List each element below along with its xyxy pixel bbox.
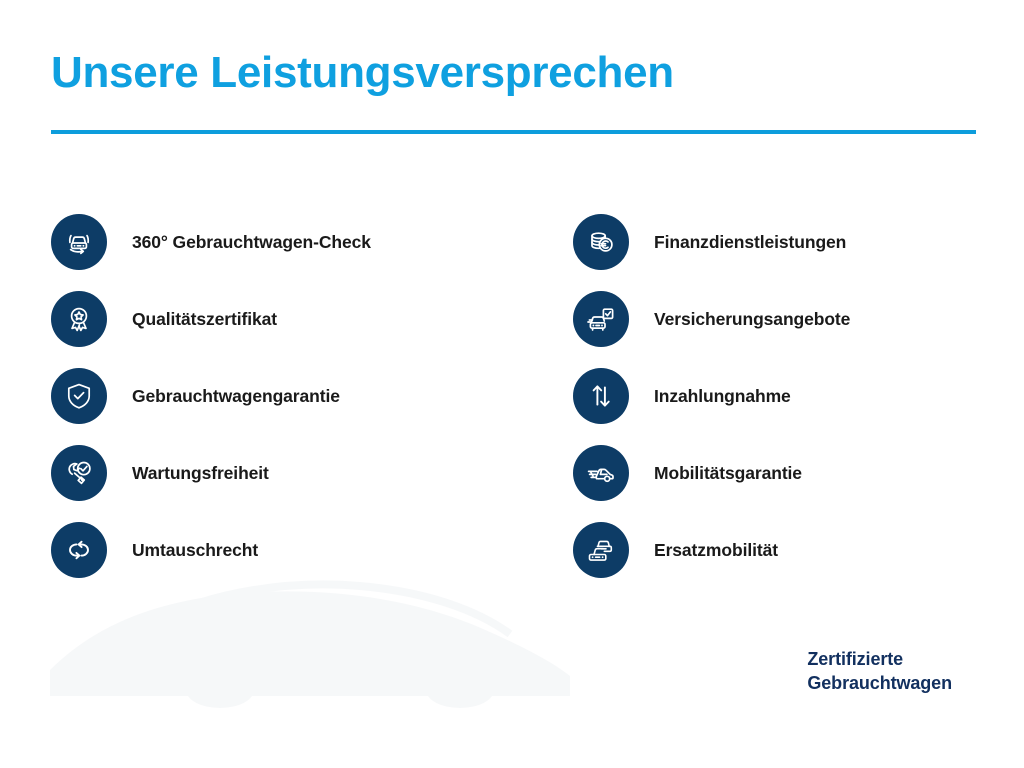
feature-label: Ersatzmobilität: [654, 539, 778, 561]
badge-line-1: Zertifizierte: [807, 647, 952, 671]
feature-item-gebrauchtwagengarantie[interactable]: Gebrauchtwagengarantie: [51, 357, 573, 434]
car-speed-icon: [573, 445, 629, 501]
feature-item-qualitaetszertifikat[interactable]: Qualitätszertifikat: [51, 280, 573, 357]
feature-item-mobilitaetsgarantie[interactable]: Mobilitätsgarantie: [573, 434, 976, 511]
feature-item-gebrauchtwagen-check[interactable]: 360° Gebrauchtwagen-Check: [51, 203, 573, 280]
feature-item-wartungsfreiheit[interactable]: Wartungsfreiheit: [51, 434, 573, 511]
exchange-arrows-icon: [51, 522, 107, 578]
feature-label: Finanzdienstleistungen: [654, 231, 846, 253]
badge-line-2: Gebrauchtwagen: [807, 671, 952, 695]
feature-item-finanzdienstleistungen[interactable]: Finanzdienstleistungen: [573, 203, 976, 280]
certified-used-cars-badge: Zertifizierte Gebrauchtwagen: [807, 647, 952, 695]
two-cars-icon: [573, 522, 629, 578]
car-checkbox-icon: [573, 291, 629, 347]
feature-item-inzahlungnahme[interactable]: Inzahlungnahme: [573, 357, 976, 434]
feature-label: Versicherungsangebote: [654, 308, 850, 330]
page-title: Unsere Leistungsversprechen: [51, 46, 976, 100]
feature-label: Inzahlungnahme: [654, 385, 791, 407]
slide-header: Unsere Leistungsversprechen: [51, 46, 976, 100]
car-360-check-icon: [51, 214, 107, 270]
slide-root: Unsere Leistungsversprechen 360° Gebrau: [0, 0, 1024, 768]
feature-label: Umtauschrecht: [132, 539, 258, 561]
feature-item-umtauschrecht[interactable]: Umtauschrecht: [51, 511, 573, 588]
feature-label: Qualitätszertifikat: [132, 308, 277, 330]
shield-check-icon: [51, 368, 107, 424]
arrows-up-down-icon: [573, 368, 629, 424]
wrench-check-icon: [51, 445, 107, 501]
coins-euro-icon: [573, 214, 629, 270]
feature-list: 360° Gebrauchtwagen-Check Finanzdienstle…: [51, 203, 976, 588]
award-ribbon-star-icon: [51, 291, 107, 347]
feature-label: Mobilitätsgarantie: [654, 462, 802, 484]
feature-label: 360° Gebrauchtwagen-Check: [132, 231, 371, 253]
feature-label: Gebrauchtwagengarantie: [132, 385, 340, 407]
feature-item-ersatzmobilitaet[interactable]: Ersatzmobilität: [573, 511, 976, 588]
feature-item-versicherungsangebote[interactable]: Versicherungsangebote: [573, 280, 976, 357]
title-divider-rule: [51, 130, 976, 134]
feature-label: Wartungsfreiheit: [132, 462, 269, 484]
